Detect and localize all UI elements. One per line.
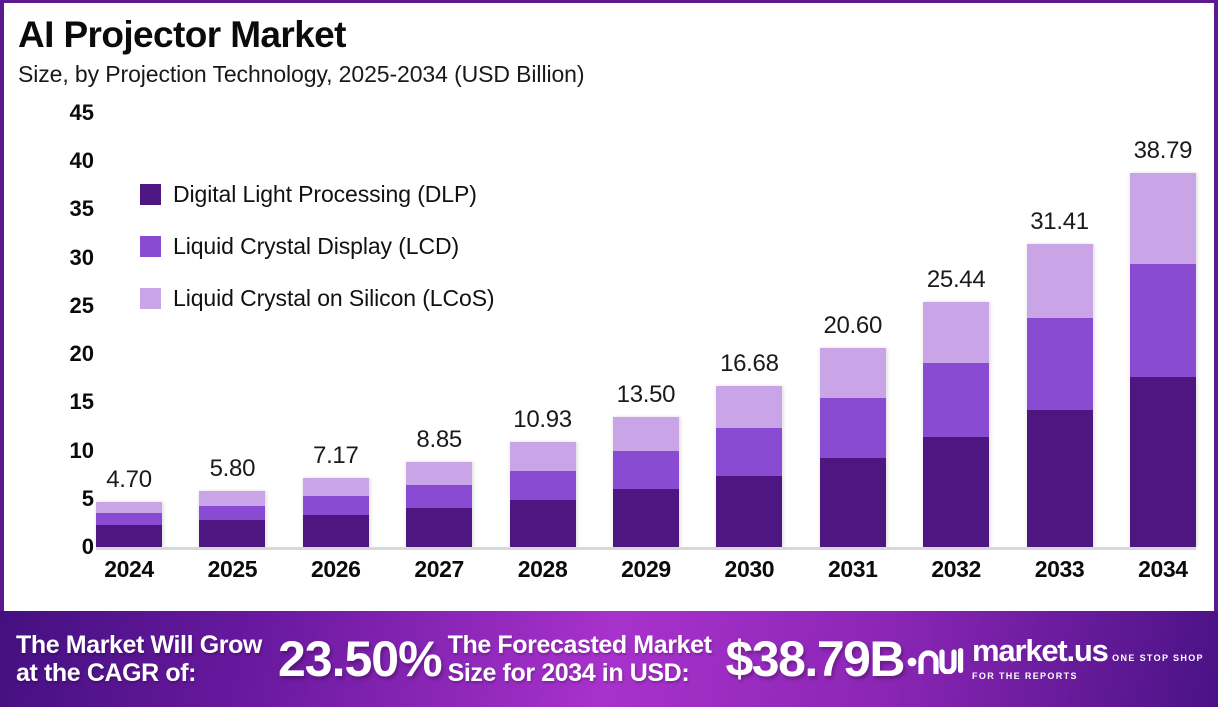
bar-group[interactable]: 16.68 xyxy=(716,113,782,547)
bar-segment xyxy=(1027,318,1093,410)
bar-segment xyxy=(613,417,679,451)
bar-value-label: 10.93 xyxy=(513,406,572,434)
chart-page: AI Projector Market Size, by Projection … xyxy=(0,0,1218,707)
x-axis-tick: 2026 xyxy=(303,556,369,596)
forecast-size-label-line1: The Forecasted Market xyxy=(448,631,712,659)
bar-value-label: 13.50 xyxy=(617,381,676,409)
y-axis-tick: 0 xyxy=(82,534,94,560)
forecast-size-value: $38.79B xyxy=(726,630,905,688)
x-axis-tick: 2028 xyxy=(510,556,576,596)
bar-stack xyxy=(96,502,162,547)
x-axis-tick: 2024 xyxy=(96,556,162,596)
bar-segment xyxy=(406,462,472,485)
bar-value-label: 4.70 xyxy=(106,466,152,494)
bar-group[interactable]: 7.17 xyxy=(303,113,369,547)
bar-segment xyxy=(510,442,576,471)
bar-stack xyxy=(1130,173,1196,547)
x-axis-tick: 2033 xyxy=(1027,556,1093,596)
bar-stack xyxy=(1027,244,1093,547)
cagr-label-line1: The Market Will Grow xyxy=(16,631,262,659)
x-axis-tick: 2034 xyxy=(1130,556,1196,596)
bar-stack xyxy=(303,478,369,547)
y-axis-tick: 20 xyxy=(70,341,94,367)
bar-segment xyxy=(510,471,576,501)
bar-segment xyxy=(1027,410,1093,547)
bar-segment xyxy=(1130,264,1196,377)
y-axis-tick: 45 xyxy=(70,100,94,126)
x-axis-tick: 2030 xyxy=(716,556,782,596)
bar-value-label: 25.44 xyxy=(927,266,986,294)
bar-segment xyxy=(716,476,782,547)
footer-banner: The Market Will Grow at the CAGR of: 23.… xyxy=(0,611,1218,707)
page-title: AI Projector Market xyxy=(18,15,584,55)
y-axis-tick: 15 xyxy=(70,389,94,415)
bar-segment xyxy=(303,515,369,547)
bar-stack xyxy=(820,348,886,547)
bar-segment xyxy=(199,520,265,547)
chart-subtitle: Size, by Projection Technology, 2025-203… xyxy=(18,61,584,88)
y-axis: 454035302520151050 xyxy=(38,113,94,547)
bar-segment xyxy=(406,485,472,509)
x-axis-tick: 2027 xyxy=(406,556,472,596)
x-axis-tick: 2032 xyxy=(923,556,989,596)
market-us-logo-text: market.us ONE STOP SHOP FOR THE REPORTS xyxy=(972,635,1218,684)
bar-group[interactable]: 5.80 xyxy=(199,113,265,547)
forecast-size-label-line2: Size for 2034 in USD: xyxy=(448,659,712,687)
bar-segment xyxy=(820,348,886,398)
bar-segment xyxy=(406,508,472,547)
axis-baseline xyxy=(96,547,1196,550)
bar-group[interactable]: 20.60 xyxy=(820,113,886,547)
y-axis-tick: 40 xyxy=(70,148,94,174)
bar-segment xyxy=(613,451,679,489)
bar-group[interactable]: 10.93 xyxy=(510,113,576,547)
bar-value-label: 38.79 xyxy=(1134,137,1193,165)
cagr-value: 23.50% xyxy=(278,630,442,688)
y-axis-tick: 5 xyxy=(82,486,94,512)
bar-segment xyxy=(820,398,886,457)
bar-stack xyxy=(199,491,265,547)
bar-segment xyxy=(923,302,989,363)
bar-stack xyxy=(406,462,472,547)
bar-value-label: 8.85 xyxy=(416,426,462,454)
plot-area: 454035302520151050 Digital Light Process… xyxy=(4,113,1214,603)
x-axis-tick: 2029 xyxy=(613,556,679,596)
bar-stack xyxy=(613,417,679,547)
cagr-label-line2: at the CAGR of: xyxy=(16,659,262,687)
bar-group[interactable]: 38.79 xyxy=(1130,113,1196,547)
bar-group[interactable]: 25.44 xyxy=(923,113,989,547)
x-axis-tick: 2031 xyxy=(820,556,886,596)
x-axis: 2024202520262027202820292030203120322033… xyxy=(96,556,1196,596)
y-axis-tick: 10 xyxy=(70,438,94,464)
y-axis-tick: 35 xyxy=(70,196,94,222)
logo-name: market.us xyxy=(972,633,1108,668)
y-axis-tick: 25 xyxy=(70,293,94,319)
bar-segment xyxy=(303,496,369,515)
bar-segment xyxy=(820,458,886,547)
bar-segment xyxy=(1130,377,1196,547)
bar-segment xyxy=(96,513,162,525)
bar-segment xyxy=(613,489,679,547)
bar-group[interactable]: 31.41 xyxy=(1027,113,1093,547)
x-axis-tick: 2025 xyxy=(199,556,265,596)
bar-segment xyxy=(1130,173,1196,265)
bar-series-container: 4.705.807.178.8510.9313.5016.6820.6025.4… xyxy=(96,113,1196,547)
chart-header: AI Projector Market Size, by Projection … xyxy=(18,15,584,88)
bar-group[interactable]: 4.70 xyxy=(96,113,162,547)
y-axis-tick: 30 xyxy=(70,245,94,271)
forecast-size-label: The Forecasted Market Size for 2034 in U… xyxy=(448,631,712,687)
bar-value-label: 31.41 xyxy=(1030,208,1089,236)
bar-segment xyxy=(923,437,989,547)
bar-value-label: 16.68 xyxy=(720,350,779,378)
bar-group[interactable]: 13.50 xyxy=(613,113,679,547)
bar-stack xyxy=(510,442,576,547)
bar-segment xyxy=(1027,244,1093,318)
bar-stack xyxy=(923,302,989,547)
bar-value-label: 7.17 xyxy=(313,442,359,470)
bar-value-label: 20.60 xyxy=(823,312,882,340)
bar-segment xyxy=(199,506,265,520)
bar-segment xyxy=(199,491,265,505)
market-us-logo-icon xyxy=(906,640,964,679)
bar-segment xyxy=(923,363,989,437)
bar-segment xyxy=(303,478,369,497)
bar-segment xyxy=(96,525,162,547)
market-us-logo[interactable]: market.us ONE STOP SHOP FOR THE REPORTS xyxy=(906,635,1218,684)
bar-segment xyxy=(716,428,782,476)
bar-segment xyxy=(510,500,576,547)
bar-segment xyxy=(96,502,162,514)
bar-group[interactable]: 8.85 xyxy=(406,113,472,547)
bar-value-label: 5.80 xyxy=(210,455,256,483)
bar-segment xyxy=(716,386,782,427)
cagr-label: The Market Will Grow at the CAGR of: xyxy=(16,631,262,687)
bar-stack xyxy=(716,386,782,547)
